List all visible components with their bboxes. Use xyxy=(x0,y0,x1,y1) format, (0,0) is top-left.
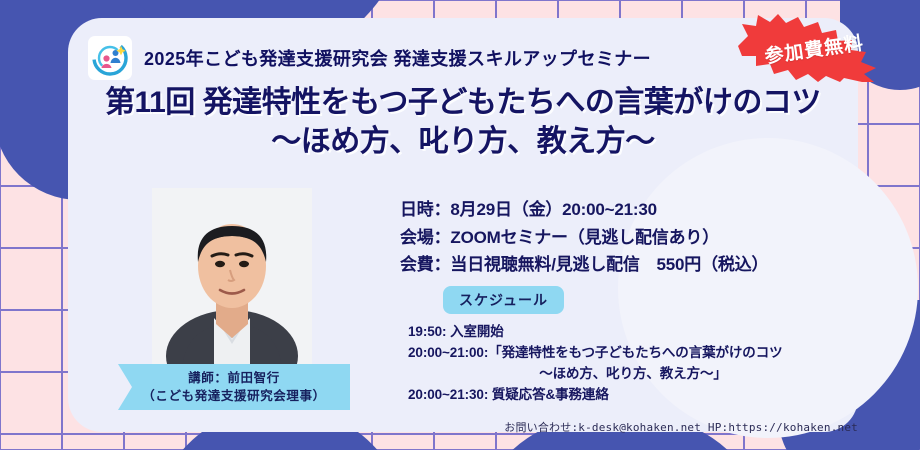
footer-contact: お問い合わせ:k-desk@kohaken.net HP:https://koh… xyxy=(504,421,858,434)
footer: お問い合わせ:k-desk@kohaken.net HP:https://koh… xyxy=(0,418,858,436)
seminar-flyer: 2025年こども発達支援研究会 発達支援スキルアップセミナー 参加費無料 第11… xyxy=(0,0,920,450)
header-title: 2025年こども発達支援研究会 発達支援スキルアップセミナー xyxy=(144,45,651,71)
lecturer-info: 講師：前田智行 （こども発達支援研究会理事） xyxy=(118,364,350,410)
schedule-row: 〜ほめ方、叱り方、教え方〜」 xyxy=(408,364,858,385)
schedule-row: 20:00~21:00:「発達特性をもつ子どもたちへの言葉がけのコツ xyxy=(408,343,858,364)
info-datetime: 日時：8月29日（金）20:00~21:30 xyxy=(400,196,768,224)
kohaken-logo-icon xyxy=(88,36,132,80)
info-fee: 会費：当日視聴無料/見逃し配信 550円（税込） xyxy=(400,251,768,279)
speaker-portrait xyxy=(152,188,312,370)
lecturer-ribbon: 講師：前田智行 （こども発達支援研究会理事） xyxy=(118,364,350,410)
free-admission-badge: 参加費無料 xyxy=(726,12,902,84)
title-line-2: 〜ほめ方、叱り方、教え方〜 xyxy=(68,122,858,163)
info-venue: 会場：ZOOMセミナー（見逃し配信あり） xyxy=(400,224,768,252)
schedule-row: 19:50: 入室開始 xyxy=(408,322,858,343)
schedule-row: 20:00~21:30: 質疑応答&事務連絡 xyxy=(408,385,858,406)
header: 2025年こども発達支援研究会 発達支援スキルアップセミナー xyxy=(88,36,651,80)
main-title: 第11回 発達特性をもつ子どもたちへの言葉がけのコツ 〜ほめ方、叱り方、教え方〜 xyxy=(68,84,858,163)
lecturer-affiliation: （こども発達支援研究会理事） xyxy=(142,387,325,405)
lecturer-name: 講師：前田智行 xyxy=(188,369,280,387)
event-info-block: 日時：8月29日（金）20:00~21:30 会場：ZOOMセミナー（見逃し配信… xyxy=(400,196,768,279)
schedule-heading-pill: スケジュール xyxy=(443,286,564,314)
schedule-list: 19:50: 入室開始 20:00~21:00:「発達特性をもつ子どもたちへの言… xyxy=(408,322,858,406)
